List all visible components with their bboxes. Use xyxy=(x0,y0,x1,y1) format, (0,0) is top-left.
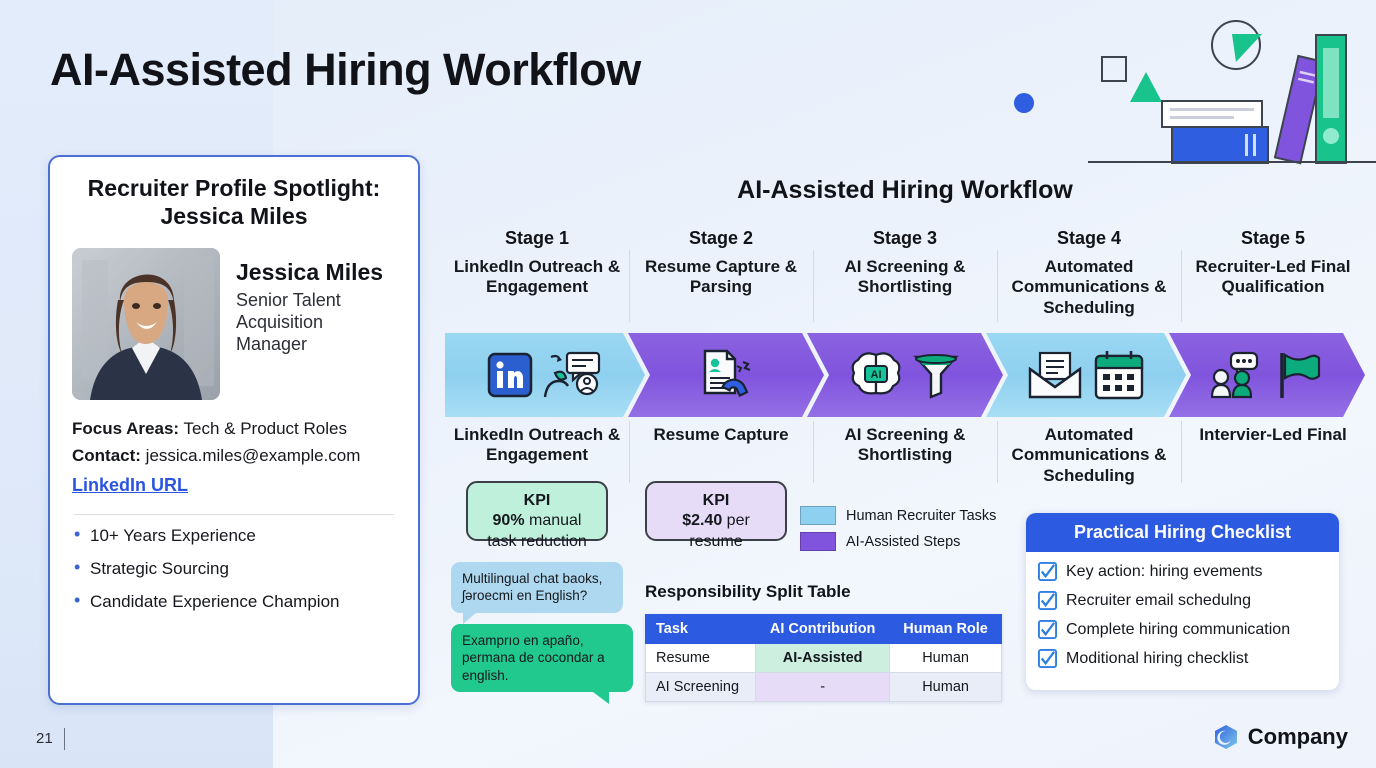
chevron-stage-3[interactable]: AI xyxy=(807,333,1003,417)
cell-task: Resume xyxy=(646,644,756,673)
decorative-books-illustration xyxy=(1000,0,1376,168)
col-task: Task xyxy=(646,615,756,644)
kpi-card-stage-1: KPI 90% manual task reduction xyxy=(466,481,608,541)
stage-header-4: Stage 4 Automated Communications & Sched… xyxy=(997,228,1181,328)
profile-meta: Focus Areas: Tech & Product Roles Contac… xyxy=(72,416,396,469)
focus-areas-row: Focus Areas: Tech & Product Roles xyxy=(72,416,396,442)
list-item: 10+ Years Experience xyxy=(72,527,396,544)
profile-role: Senior Talent Acquisition Manager xyxy=(236,290,396,356)
funnel-icon xyxy=(912,351,960,399)
workflow-title: AI-Assisted Hiring Workflow xyxy=(445,176,1365,205)
slide-canvas: AI-Assisted Hiring Workflow Recruiter Pr… xyxy=(0,0,1376,768)
table-header-row: Task AI Contribution Human Role xyxy=(646,615,1002,644)
flag-icon xyxy=(1277,351,1323,399)
linkedin-icon xyxy=(487,352,533,398)
legend-row-ai: AI-Assisted Steps xyxy=(800,532,996,551)
kpi-value: 90% xyxy=(493,512,525,529)
stage-subtitle: Resume Capture & Parsing xyxy=(635,257,807,298)
stage-header-2: Stage 2 Resume Capture & Parsing xyxy=(629,228,813,328)
profile-highlights-list: 10+ Years Experience Strategic Sourcing … xyxy=(72,527,396,610)
stage-number: Stage 3 xyxy=(819,228,991,249)
brand-footer: Company xyxy=(1213,724,1348,750)
page-number: 21 xyxy=(36,730,53,747)
stage-subtitle: LinkedIn Outreach & Engagement xyxy=(451,257,623,298)
contact-row: Contact: jessica.miles@example.com xyxy=(72,443,396,469)
cell-ai: AI-Assisted xyxy=(756,644,890,673)
checklist-item[interactable]: Key action: hiring evements xyxy=(1038,562,1327,581)
checkbox-checked-icon[interactable] xyxy=(1038,562,1057,581)
avatar xyxy=(72,248,220,400)
kpi-title: KPI xyxy=(524,492,551,509)
table-row: AI Screening - Human xyxy=(646,673,1002,702)
checklist-item-label: Recruiter email schedulng xyxy=(1066,592,1251,610)
checkbox-checked-icon[interactable] xyxy=(1038,649,1057,668)
checklist-item-label: Moditional hiring checklist xyxy=(1066,650,1248,668)
interview-people-icon xyxy=(1211,351,1267,399)
list-item: Candidate Experience Champion xyxy=(72,593,396,610)
list-item: Strategic Sourcing xyxy=(72,560,396,577)
checklist-body: Key action: hiring evements Recruiter em… xyxy=(1026,552,1339,690)
stage-number: Stage 5 xyxy=(1187,228,1359,249)
checklist-item[interactable]: Complete hiring communication xyxy=(1038,620,1327,639)
page-number-divider xyxy=(64,728,65,750)
profile-divider xyxy=(74,514,394,515)
profile-identity-row: Jessica Miles Senior Talent Acquisition … xyxy=(72,248,396,400)
cell-human: Human xyxy=(890,644,1002,673)
cell-human: Human xyxy=(890,673,1002,702)
responsibility-table-title: Responsibility Split Table xyxy=(645,582,851,602)
linkedin-url-link[interactable]: LinkedIn URL xyxy=(72,475,188,496)
legend-label-ai: AI-Assisted Steps xyxy=(846,534,960,550)
checkbox-checked-icon[interactable] xyxy=(1038,591,1057,610)
chat-bubble-answer: Examprıo en apaño, permana de cocondar a… xyxy=(451,624,633,692)
network-chat-icon xyxy=(543,351,603,399)
workflow-legend: Human Recruiter Tasks AI-Assisted Steps xyxy=(800,506,996,558)
cell-task: AI Screening xyxy=(646,673,756,702)
stage-header-1: Stage 1 LinkedIn Outreach & Engagement xyxy=(445,228,629,328)
checkbox-checked-icon[interactable] xyxy=(1038,620,1057,639)
profile-card-title: Recruiter Profile Spotlight: Jessica Mil… xyxy=(72,175,396,230)
resume-magnet-icon xyxy=(699,348,753,402)
legend-swatch-ai xyxy=(800,532,836,551)
stage-label-4: Automated Communications & Scheduling xyxy=(997,425,1181,495)
kpi-value: $2.40 xyxy=(682,512,722,529)
page-title: AI-Assisted Hiring Workflow xyxy=(50,44,641,96)
checklist-title: Practical Hiring Checklist xyxy=(1026,513,1339,552)
col-ai-contribution: AI Contribution xyxy=(756,615,890,644)
col-human-role: Human Role xyxy=(890,615,1002,644)
checklist-item[interactable]: Moditional hiring checklist xyxy=(1038,649,1327,668)
stage-subtitle: AI Screening & Shortlisting xyxy=(819,257,991,298)
calendar-icon xyxy=(1093,350,1145,400)
legend-row-human: Human Recruiter Tasks xyxy=(800,506,996,525)
kpi-title: KPI xyxy=(703,492,730,509)
stage-number: Stage 1 xyxy=(451,228,623,249)
stage-label-5: Intervier-Led Final xyxy=(1181,425,1365,495)
chevron-stage-1[interactable] xyxy=(445,333,645,417)
focus-areas-value: Tech & Product Roles xyxy=(179,419,347,438)
brand-name: Company xyxy=(1248,724,1348,750)
responsibility-split-table: Task AI Contribution Human Role Resume A… xyxy=(645,614,1002,702)
stage-number: Stage 4 xyxy=(1003,228,1175,249)
company-logo-icon xyxy=(1213,724,1239,750)
stage-headers: Stage 1 LinkedIn Outreach & Engagement S… xyxy=(445,228,1365,328)
stage-header-5: Stage 5 Recruiter-Led Final Qualificatio… xyxy=(1181,228,1365,328)
profile-identity-text: Jessica Miles Senior Talent Acquisition … xyxy=(236,248,396,356)
stage-subtitle: Automated Communications & Scheduling xyxy=(1003,257,1175,318)
practical-hiring-checklist: Practical Hiring Checklist Key action: h… xyxy=(1026,513,1339,690)
focus-areas-label: Focus Areas: xyxy=(72,419,179,438)
chevron-stage-2[interactable] xyxy=(628,333,824,417)
chat-bubble-question: Multilingual chat baoks, ʃəroecmi en Eng… xyxy=(451,562,623,613)
profile-name: Jessica Miles xyxy=(236,260,396,285)
svg-text:AI: AI xyxy=(871,369,882,381)
checklist-item-label: Key action: hiring evements xyxy=(1066,563,1263,581)
email-icon xyxy=(1027,351,1083,399)
contact-label: Contact: xyxy=(72,446,141,465)
stage-header-3: Stage 3 AI Screening & Shortlisting xyxy=(813,228,997,328)
recruiter-profile-card: Recruiter Profile Spotlight: Jessica Mil… xyxy=(48,155,420,705)
checklist-item[interactable]: Recruiter email schedulng xyxy=(1038,591,1327,610)
stage-number: Stage 2 xyxy=(635,228,807,249)
checklist-item-label: Complete hiring communication xyxy=(1066,621,1290,639)
chevron-stage-4[interactable] xyxy=(986,333,1186,417)
kpi-card-stage-2: KPI $2.40 per resume xyxy=(645,481,787,541)
legend-swatch-human xyxy=(800,506,836,525)
workflow-chevron-band: AI xyxy=(445,333,1365,417)
cell-ai: - xyxy=(756,673,890,702)
table-row: Resume AI-Assisted Human xyxy=(646,644,1002,673)
contact-value: jessica.miles@example.com xyxy=(141,446,360,465)
ai-brain-icon: AI xyxy=(850,351,902,399)
stage-subtitle: Recruiter-Led Final Qualification xyxy=(1187,257,1359,298)
chevron-stage-5[interactable] xyxy=(1169,333,1365,417)
legend-label-human: Human Recruiter Tasks xyxy=(846,508,996,524)
stage-label-3: AI Screening & Shortlisting xyxy=(813,425,997,495)
